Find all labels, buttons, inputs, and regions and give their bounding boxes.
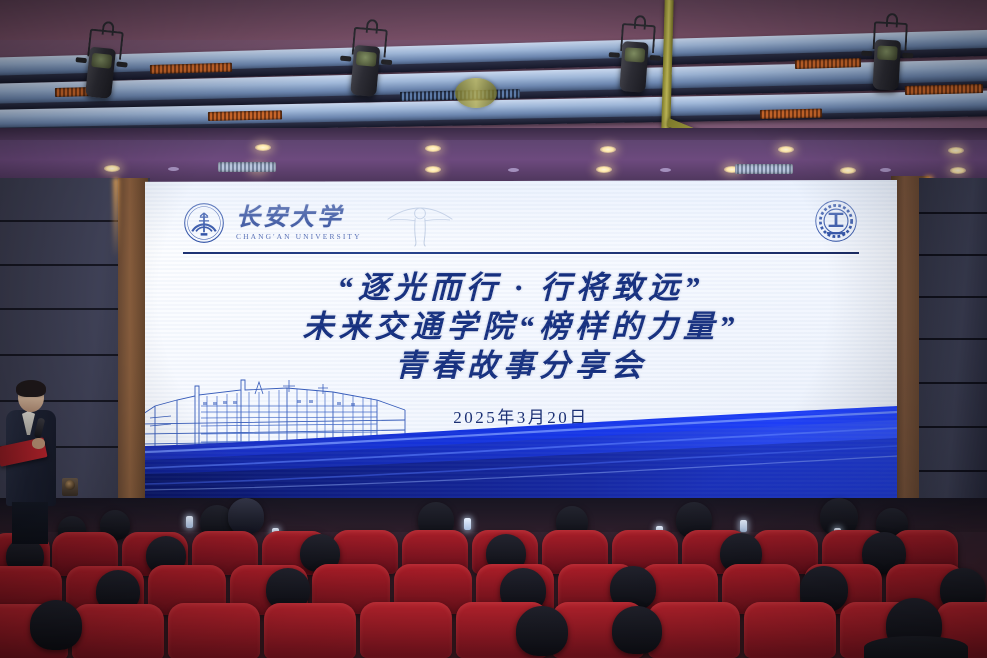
audience-head <box>228 498 264 534</box>
blue-ribbon-waves <box>145 394 897 502</box>
title-line-3: 青春故事分享会 <box>145 346 897 385</box>
presenter-hand <box>32 438 45 449</box>
audience-head <box>612 606 662 654</box>
lamp-arm <box>609 52 620 58</box>
downlight-upper <box>255 144 271 151</box>
downlight <box>104 165 120 172</box>
led-presentation-screen: 长安大学 CHANG'AN UNIVERSITY <box>145 180 897 502</box>
ceiling-grille <box>208 110 282 121</box>
wall-speaker <box>62 478 78 496</box>
stage-light <box>615 23 654 103</box>
lamp-arm <box>902 53 913 59</box>
university-name-cn: 长安大学 <box>236 206 362 230</box>
lamp-arm <box>75 57 86 63</box>
wood-pillar-left <box>118 178 148 538</box>
wall-seam <box>919 254 987 256</box>
presenter-legs <box>12 502 48 544</box>
lamp-arm <box>650 55 661 61</box>
gear-circle-emblem-icon <box>813 198 859 244</box>
lamp-arm <box>381 59 392 65</box>
presenter-with-microphone <box>2 382 58 542</box>
downlight-upper <box>600 146 616 153</box>
lamp-arm <box>116 61 127 67</box>
stage-light <box>345 27 386 108</box>
phone-screen <box>464 518 471 530</box>
downlight-small <box>508 168 519 172</box>
wall-seam <box>919 338 987 340</box>
downlight-small <box>660 168 671 172</box>
ceiling-vent <box>735 164 793 174</box>
right-wall-panels <box>919 178 987 548</box>
changan-university-seal-icon <box>183 202 225 244</box>
downlight <box>425 166 441 173</box>
support-pole-left <box>455 78 497 108</box>
pillar-glow <box>113 178 119 258</box>
slide-divider-rule <box>183 252 859 254</box>
ceiling-vent <box>218 162 276 172</box>
auditorium-photo: 长安大学 CHANG'AN UNIVERSITY <box>0 0 987 658</box>
audience-head <box>516 606 568 656</box>
phone-screen <box>740 520 747 532</box>
downlight-small <box>880 168 891 172</box>
wall-seam <box>919 212 987 214</box>
ceiling-grille <box>760 109 822 119</box>
wall-seam <box>919 426 987 428</box>
university-name: 长安大学 CHANG'AN UNIVERSITY <box>236 206 362 241</box>
audience-seat <box>72 604 164 658</box>
wall-seam <box>919 382 987 384</box>
lamp-lens <box>877 45 898 60</box>
ceiling-grille <box>795 58 861 69</box>
lamp-lens <box>356 51 377 67</box>
lamp-lens <box>91 53 112 69</box>
stage-light <box>868 21 906 101</box>
lamp-arm <box>340 56 351 62</box>
lamp-lens <box>624 47 645 62</box>
lamp-arm <box>861 51 872 57</box>
downlight-upper <box>948 147 964 154</box>
downlight <box>596 166 612 173</box>
audience-shoulders <box>864 636 968 658</box>
audience-seat <box>168 603 260 658</box>
slide-header: 长安大学 CHANG'AN UNIVERSITY <box>183 194 859 252</box>
audience-head <box>30 600 82 650</box>
title-line-1: “逐光而行 · 行将致远” <box>145 268 897 307</box>
presenter-hair <box>16 380 46 397</box>
audience-seat <box>264 603 356 658</box>
phone-screen <box>186 516 193 528</box>
audience-seat <box>360 602 452 658</box>
wall-seam <box>919 296 987 298</box>
wall-seam <box>919 470 987 472</box>
downlight <box>950 167 966 174</box>
downlight <box>840 167 856 174</box>
title-line-2: 未来交通学院“榜样的力量” <box>145 307 897 346</box>
university-name-en: CHANG'AN UNIVERSITY <box>236 233 362 241</box>
downlight-upper <box>425 145 441 152</box>
downlight-upper <box>778 146 794 153</box>
downlight-small <box>168 167 179 171</box>
audience-seat <box>744 602 836 658</box>
person-under-arch-icon <box>384 199 456 247</box>
